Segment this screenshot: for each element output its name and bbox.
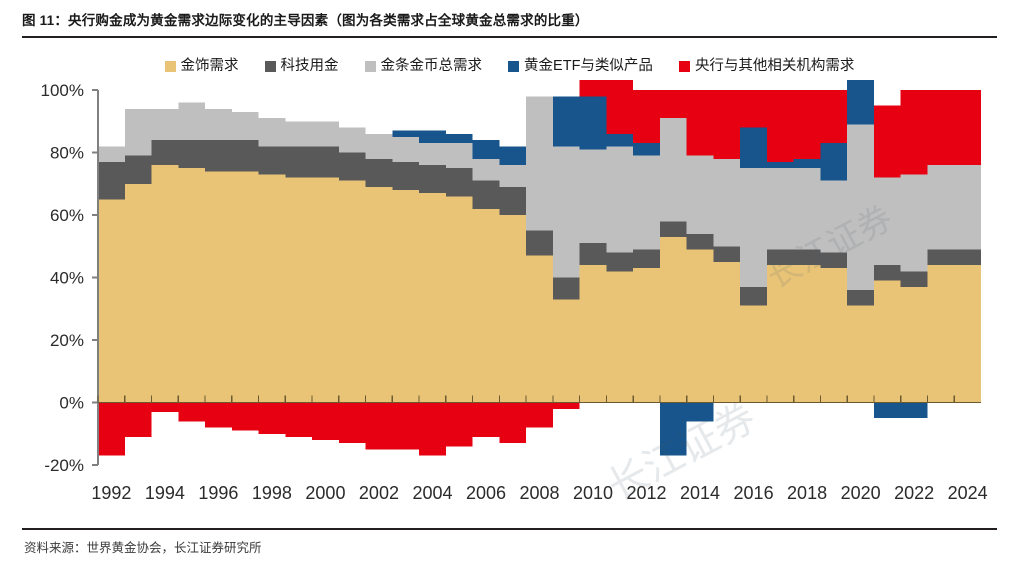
x-axis-tick-label: 1992 — [91, 483, 131, 503]
x-axis-tick-label: 2020 — [841, 483, 881, 503]
x-axis-tick-label: 2014 — [680, 483, 720, 503]
figure-panel: 图 11：央行购金成为黄金需求边际变化的主导因素（图为各类需求占全球黄金总需求的… — [0, 0, 1019, 571]
x-axis-tick-label: 2000 — [305, 483, 345, 503]
y-axis-tick-label: 40% — [50, 269, 84, 288]
y-axis-tick-label: 80% — [50, 144, 84, 163]
legend-swatch-icon — [508, 61, 519, 72]
figure-title-text: 图 11：央行购金成为黄金需求边际变化的主导因素（图为各类需求占全球黄金总需求的… — [22, 12, 997, 30]
legend-swatch-icon — [365, 61, 376, 72]
x-axis-tick-label: 1998 — [252, 483, 292, 503]
legend-item-technology[interactable]: 科技用金 — [265, 58, 339, 74]
legend-item-jewelry[interactable]: 金饰需求 — [165, 58, 239, 74]
x-axis-tick-label: 2018 — [787, 483, 827, 503]
x-axis-tick-label: 2024 — [948, 483, 988, 503]
legend-item-label: 央行与其他相关机构需求 — [695, 58, 855, 74]
x-axis-tick-label: 2006 — [466, 483, 506, 503]
source-note: 资料来源：世界黄金协会，长江证券研究所 — [24, 537, 262, 556]
legend-item-etf[interactable]: 黄金ETF与类似产品 — [508, 58, 653, 74]
y-axis-tick-label: -20% — [44, 456, 84, 475]
legend-item-central_bank[interactable]: 央行与其他相关机构需求 — [679, 58, 855, 74]
title-divider — [22, 36, 997, 38]
y-axis-tick-label: 0% — [59, 394, 84, 413]
legend-item-label: 金条金币总需求 — [381, 58, 483, 74]
chart-plot-area: -20%0%20%40%60%80%100%199219941996199820… — [0, 80, 1019, 520]
y-axis-tick-label: 100% — [41, 81, 84, 100]
x-axis-tick-label: 2016 — [734, 483, 774, 503]
x-axis-tick-label: 2012 — [627, 483, 667, 503]
x-axis-tick-label: 2004 — [412, 483, 452, 503]
legend-item-bars_coins[interactable]: 金条金币总需求 — [365, 58, 483, 74]
x-axis-tick-label: 1996 — [198, 483, 238, 503]
y-axis-tick-label: 20% — [50, 331, 84, 350]
legend-item-label: 科技用金 — [281, 58, 339, 74]
footer-divider — [22, 528, 997, 530]
x-axis-tick-label: 1994 — [145, 483, 185, 503]
chart-legend: 金饰需求科技用金金条金币总需求黄金ETF与类似产品央行与其他相关机构需求 — [0, 54, 1019, 78]
legend-item-label: 金饰需求 — [181, 58, 239, 74]
x-axis-tick-label: 2022 — [894, 483, 934, 503]
legend-swatch-icon — [265, 61, 276, 72]
x-axis-tick-label: 2010 — [573, 483, 613, 503]
x-axis-tick-label: 2002 — [359, 483, 399, 503]
x-axis-tick-label: 2008 — [519, 483, 559, 503]
legend-item-label: 黄金ETF与类似产品 — [524, 58, 653, 74]
y-axis-tick-label: 60% — [50, 206, 84, 225]
stacked-area-chart: -20%0%20%40%60%80%100%199219941996199820… — [0, 80, 1019, 520]
legend-swatch-icon — [679, 61, 690, 72]
legend-swatch-icon — [165, 61, 176, 72]
